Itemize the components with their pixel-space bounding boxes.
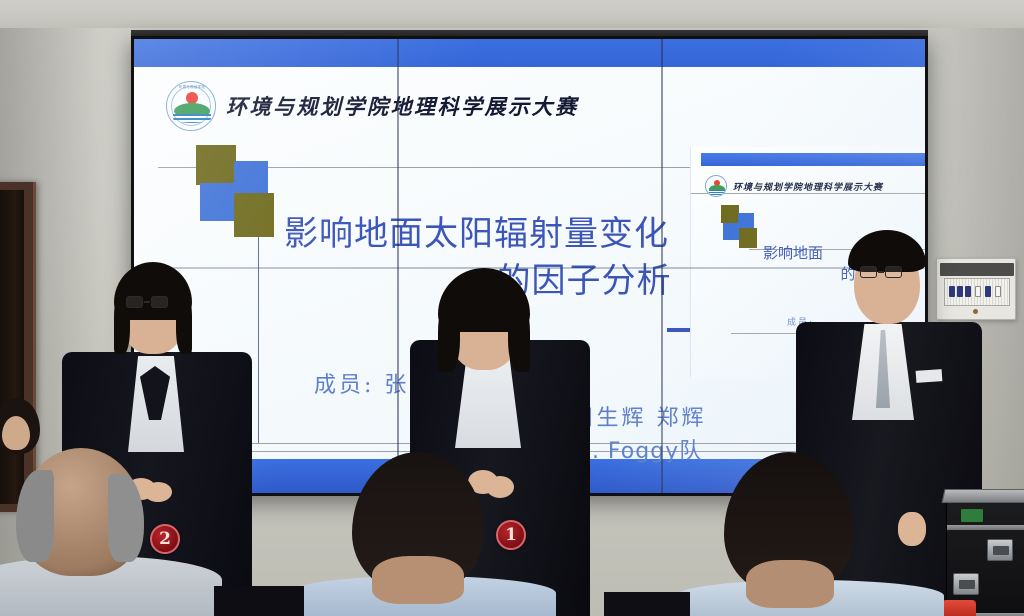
videowall-seam [134, 267, 925, 269]
audience-shoulder [604, 592, 690, 616]
presenter-left-hand [144, 482, 172, 502]
doorway-opening [0, 190, 24, 504]
slide-header-title: 环境与规划学院地理科学展示大赛 [226, 91, 579, 121]
emblem-text: 环境与规划学院 [167, 84, 216, 89]
breaker-switch [965, 286, 971, 297]
glasses-bridge [878, 271, 884, 273]
pip-header-title: 环境与规划学院地理科学展示大赛 [733, 180, 883, 193]
pip-deco-square [721, 205, 739, 223]
breaker-switch [995, 286, 1001, 297]
flight-case-edge [947, 525, 1024, 530]
panel-face [944, 278, 1010, 306]
deco-square [234, 161, 268, 195]
emblem-water-icon [173, 114, 211, 123]
glasses-lens [151, 296, 168, 308]
glasses-lens [860, 266, 877, 278]
pip-emblem-water-icon [709, 190, 725, 195]
breaker-switch [985, 286, 991, 297]
breaker-switch [957, 286, 963, 297]
presenter-right-pocket-square [916, 369, 943, 383]
presenter-center-hand [486, 476, 514, 498]
videowall-seam [661, 39, 663, 493]
presenter-center-hair [508, 300, 530, 372]
flight-case-latch [953, 573, 979, 595]
deco-square [196, 145, 236, 185]
pip-emblem-icon [705, 175, 727, 197]
breaker-switch [949, 286, 955, 297]
audience-neck [746, 560, 834, 608]
red-object [942, 600, 976, 616]
presenter-right-hand [898, 512, 926, 546]
electrical-panel [936, 258, 1016, 320]
deco-square [200, 183, 236, 221]
pip-deco-square [738, 213, 754, 229]
glasses-lens [126, 296, 143, 308]
audience-face [2, 416, 30, 450]
deco-square [234, 193, 274, 237]
flight-case [946, 496, 1024, 616]
pip-deco-square [739, 228, 757, 248]
breaker-switch [975, 286, 981, 297]
panel-lid [940, 263, 1014, 276]
glasses-lens [885, 266, 902, 278]
presenter-left-hair [176, 292, 192, 354]
photo-scene: 环境与规划学院 环境与规划学院地理科学展示大赛 影响地面太阳辐射量变化 的因 [0, 0, 1024, 616]
doorway [0, 182, 36, 512]
university-emblem-icon: 环境与规划学院 [166, 81, 216, 131]
presenter-center-hair [438, 300, 460, 372]
flight-case-latch [987, 539, 1013, 561]
audience-shoulder [214, 586, 304, 616]
pip-deco-square [723, 223, 739, 240]
pip-top-bar [701, 153, 925, 166]
videowall-seam [397, 39, 399, 493]
slide-top-bar [134, 39, 925, 67]
pip-rule [691, 193, 925, 194]
audience-neck [372, 556, 464, 604]
flight-case-label [961, 509, 983, 522]
presenter-center-number-badge: 1 [496, 520, 526, 550]
flight-case-lid [942, 489, 1024, 503]
glasses-bridge [144, 301, 150, 303]
presenter-left-number-badge: 2 [150, 524, 180, 554]
panel-screw [973, 309, 978, 314]
